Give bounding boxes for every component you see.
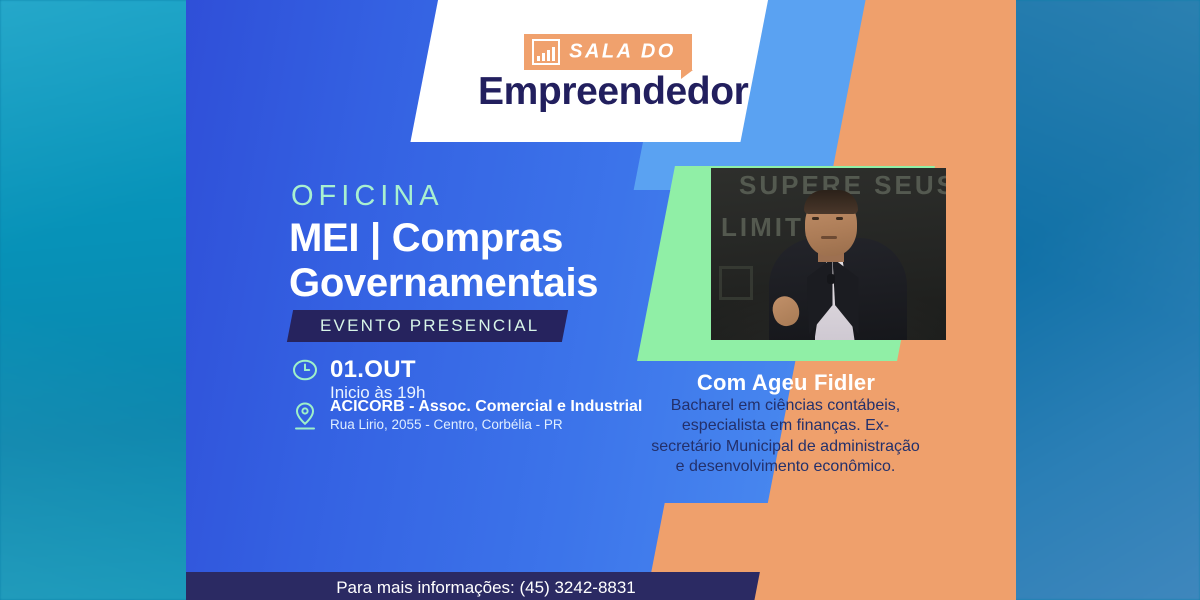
speaker-eye-left — [812, 217, 819, 220]
event-flyer: SALA DO Empreendedor OFICINA MEI | Compr… — [186, 0, 1016, 600]
logo-banner: SALA DO — [524, 34, 692, 70]
speaker-bio: Bacharel em ciências contábeis, especial… — [648, 396, 923, 478]
logo-main-text: Empreendedor — [478, 72, 738, 111]
event-title-line2: Governamentais — [289, 261, 669, 306]
logo-banner-text: SALA DO — [569, 41, 676, 63]
photo-background-shape — [719, 266, 753, 300]
event-date-value: 01.OUT — [330, 356, 425, 384]
event-address: Rua Lirio, 2055 - Centro, Corbélia - PR — [330, 417, 642, 432]
backdrop-right — [1010, 0, 1200, 600]
modality-badge-label: EVENTO PRESENCIAL — [320, 316, 539, 336]
map-pin-icon — [292, 398, 322, 439]
event-venue: ACICORB - Assoc. Comercial e Industrial — [330, 398, 642, 416]
speaker-photo: SUPERE SEUS LIMITES — [711, 168, 946, 340]
speaker-name: Com Ageu Fidler — [656, 370, 916, 396]
backdrop-left — [0, 0, 200, 600]
footer-contact: Para mais informações: (45) 3242-8831 — [186, 578, 786, 598]
speaker-mouth — [821, 236, 837, 239]
event-title: MEI | Compras Governamentais — [289, 216, 669, 306]
event-kicker: OFICINA — [291, 180, 444, 213]
speaker-eye-right — [836, 217, 843, 220]
bar-chart-icon — [532, 39, 560, 65]
event-location-row: ACICORB - Assoc. Comercial e Industrial … — [292, 398, 642, 439]
event-date-row: 01.OUT Inicio às 19h — [292, 356, 425, 403]
brand-logo: SALA DO Empreendedor — [478, 34, 738, 111]
modality-badge: EVENTO PRESENCIAL — [287, 310, 569, 342]
event-title-line1: MEI | Compras — [289, 216, 669, 261]
clock-icon — [292, 356, 322, 389]
speaker-hair — [804, 190, 858, 214]
lapel-mic-icon — [827, 274, 835, 284]
